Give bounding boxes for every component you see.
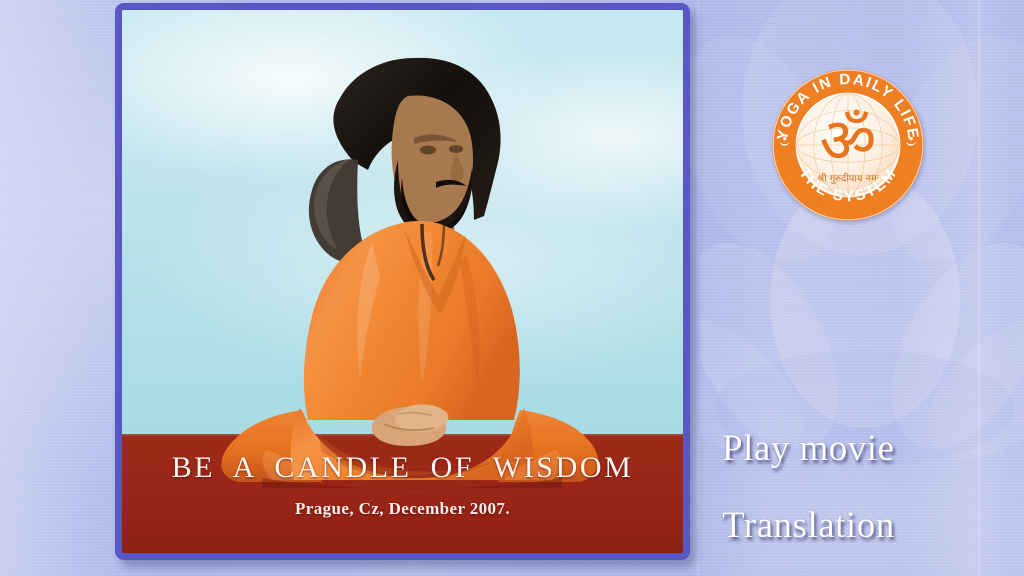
movie-cover-frame: BE A CANDLE OF WISDOM Prague, Cz, Decemb… — [115, 3, 690, 560]
om-symbol: ॐ — [820, 104, 877, 177]
menu-item-play-movie[interactable]: Play movie — [722, 430, 1022, 469]
caption-title: BE A CANDLE OF WISDOM — [172, 451, 634, 485]
cover-photo: BE A CANDLE OF WISDOM Prague, Cz, Decemb… — [122, 10, 683, 553]
caption-subtitle: Prague, Cz, December 2007. — [295, 499, 510, 519]
menu-list: Play movie Translation — [722, 430, 1022, 546]
yoga-in-daily-life-logo: ॐ श्री गुरुदीपाय नमः YOGA IN DAILY LIFE … — [770, 67, 926, 223]
photo-caption: BE A CANDLE OF WISDOM Prague, Cz, Decemb… — [122, 433, 683, 553]
background-stripe-2 — [697, 0, 700, 576]
dvd-menu-screen: BE A CANDLE OF WISDOM Prague, Cz, Decemb… — [0, 0, 1024, 576]
menu-item-translation[interactable]: Translation — [722, 507, 1022, 546]
